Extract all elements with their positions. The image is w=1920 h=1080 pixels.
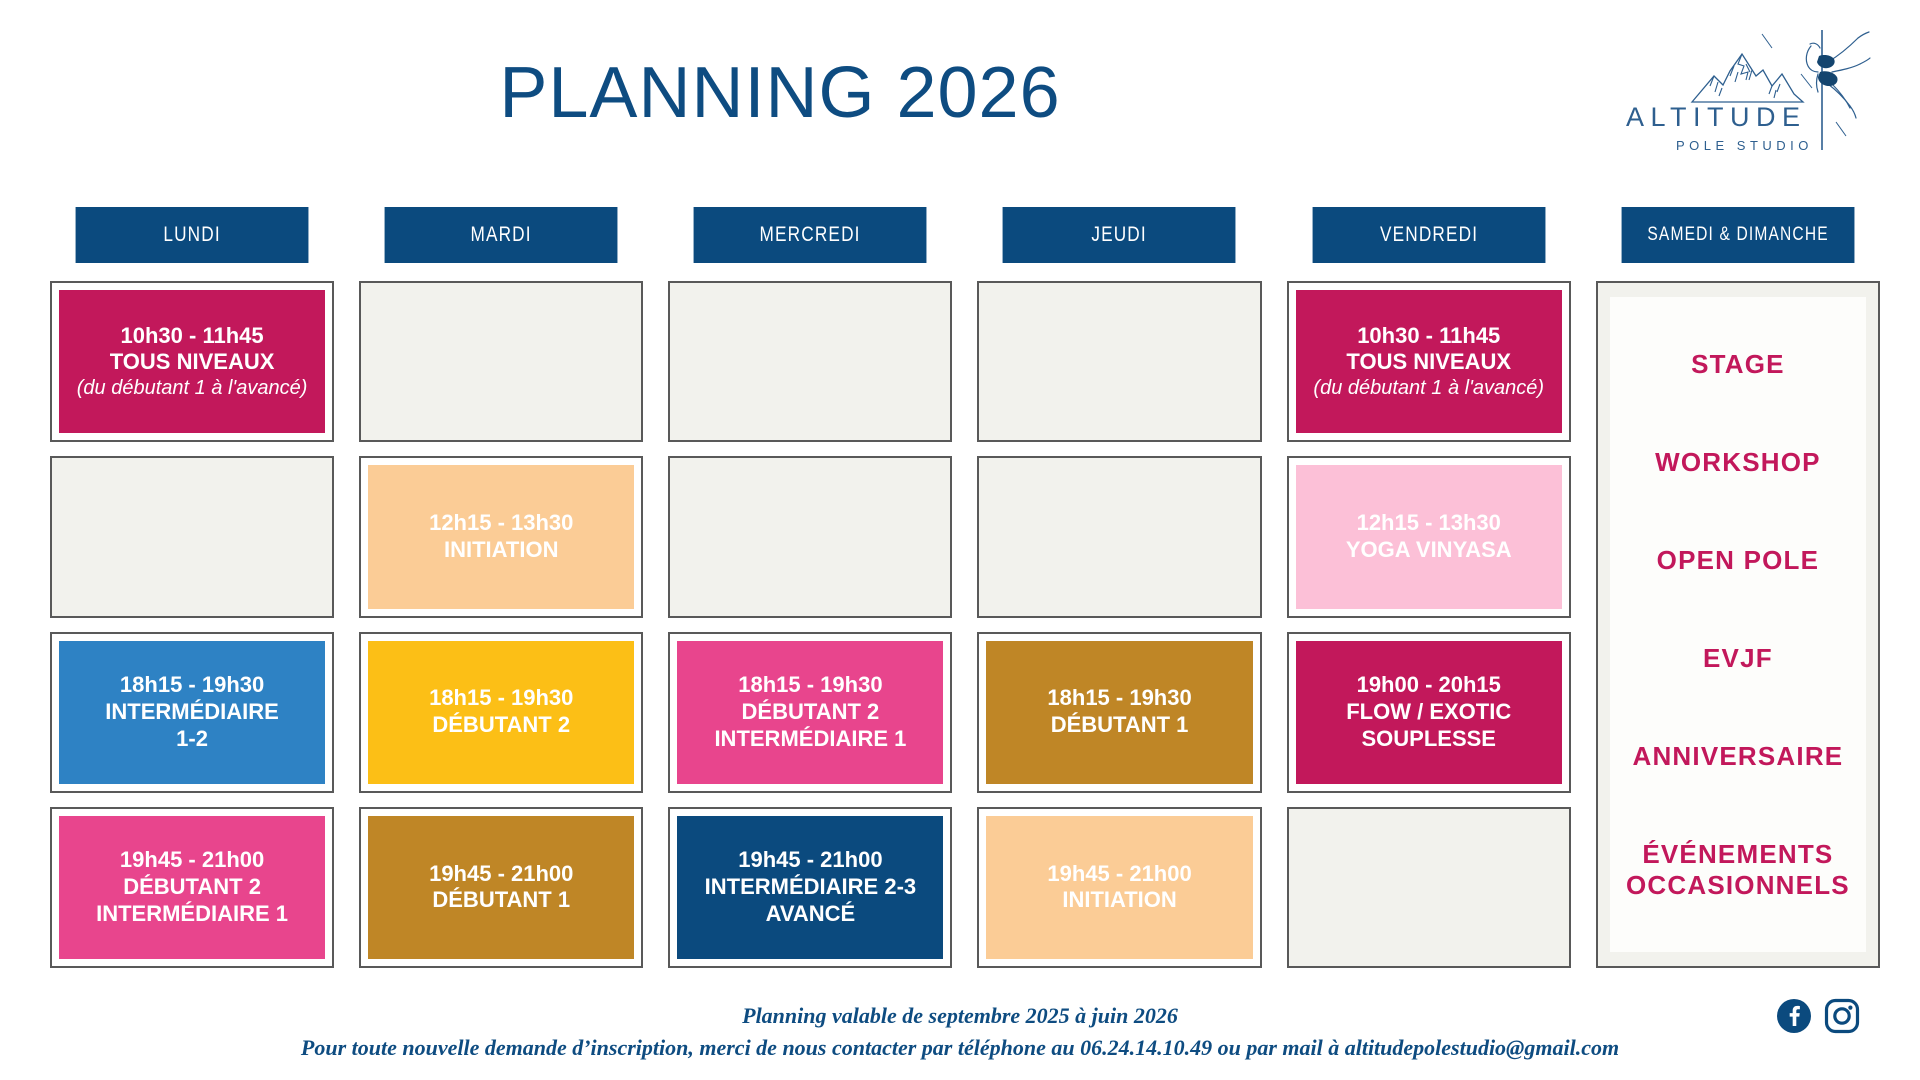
- class-time: 18h15 - 19h30: [1047, 685, 1191, 712]
- class-chip: 19h45 - 21h00 DÉBUTANT 1: [368, 816, 634, 959]
- weekend-event-open-pole: OPEN POLE: [1616, 511, 1860, 609]
- class-time: 12h15 - 13h30: [429, 510, 573, 537]
- class-time: 19h45 - 21h00: [738, 847, 882, 874]
- weekend-event-anniversaire: ANNIVERSAIRE: [1616, 707, 1860, 805]
- weekly-schedule-grid: LUNDI MARDI MERCREDI JEUDI VENDREDI SAME…: [50, 207, 1880, 982]
- schedule-cell[interactable]: 19h45 - 21h00 INTERMÉDIAIRE 2-3 AVANCÉ: [668, 807, 952, 968]
- weekend-events-cell[interactable]: STAGE WORKSHOP OPEN POLE EVJF ANNIVERSAI…: [1596, 281, 1880, 968]
- class-level2: 1-2: [176, 726, 208, 753]
- schedule-cell[interactable]: 18h15 - 19h30 DÉBUTANT 2: [359, 632, 643, 793]
- class-time: 12h15 - 13h30: [1357, 510, 1501, 537]
- class-time: 18h15 - 19h30: [120, 672, 264, 699]
- class-level: DÉBUTANT 2: [432, 712, 570, 739]
- altitude-pole-studio-logo: ALTITUDE POLE STUDIO: [1596, 14, 1896, 164]
- day-header-vendredi: VENDREDI: [1312, 207, 1545, 263]
- weekend-event-evjf: EVJF: [1616, 609, 1860, 707]
- schedule-cell[interactable]: 18h15 - 19h30 DÉBUTANT 1: [977, 632, 1261, 793]
- class-chip: 10h30 - 11h45 TOUS NIVEAUX (du débutant …: [1296, 290, 1562, 433]
- class-note: (du débutant 1 à l'avancé): [77, 376, 308, 400]
- schedule-cell[interactable]: 10h30 - 11h45 TOUS NIVEAUX (du débutant …: [1287, 281, 1571, 442]
- schedule-cell[interactable]: 12h15 - 13h30 INITIATION: [359, 456, 643, 617]
- weekend-events-panel: STAGE WORKSHOP OPEN POLE EVJF ANNIVERSAI…: [1610, 297, 1866, 952]
- weekend-event-occasionnels: ÉVÉNEMENTS OCCASIONNELS: [1616, 805, 1860, 934]
- weekend-event-workshop: WORKSHOP: [1616, 413, 1860, 511]
- svg-text:POLE STUDIO: POLE STUDIO: [1676, 138, 1813, 153]
- day-header-jeudi: JEUDI: [1003, 207, 1236, 263]
- schedule-cell[interactable]: 10h30 - 11h45 TOUS NIVEAUX (du débutant …: [50, 281, 334, 442]
- day-header-lundi: LUNDI: [76, 207, 309, 263]
- svg-text:ALTITUDE: ALTITUDE: [1626, 102, 1807, 132]
- schedule-cell[interactable]: 18h15 - 19h30 DÉBUTANT 2 INTERMÉDIAIRE 1: [668, 632, 952, 793]
- schedule-cell-empty[interactable]: [977, 456, 1261, 617]
- class-note: (du débutant 1 à l'avancé): [1313, 376, 1544, 400]
- class-time: 10h30 - 11h45: [1357, 323, 1500, 350]
- class-level: DÉBUTANT 1: [1051, 712, 1189, 739]
- class-time: 18h15 - 19h30: [738, 672, 882, 699]
- class-chip: 18h15 - 19h30 DÉBUTANT 1: [986, 641, 1252, 784]
- class-level: INTERMÉDIAIRE 2-3: [705, 874, 916, 901]
- schedule-cell-empty[interactable]: [50, 456, 334, 617]
- class-level: TOUS NIVEAUX: [1346, 349, 1511, 376]
- class-level: DÉBUTANT 1: [432, 887, 570, 914]
- class-chip: 19h45 - 21h00 DÉBUTANT 2 INTERMÉDIAIRE 1: [59, 816, 325, 959]
- class-chip: 10h30 - 11h45 TOUS NIVEAUX (du débutant …: [59, 290, 325, 433]
- class-time: 19h45 - 21h00: [120, 847, 264, 874]
- class-level2: AVANCÉ: [766, 901, 856, 928]
- schedule-cell[interactable]: 19h45 - 21h00 INITIATION: [977, 807, 1261, 968]
- planning-poster: PLANNING 2026: [0, 0, 1920, 1080]
- schedule-cell[interactable]: 12h15 - 13h30 YOGA VINYASA: [1287, 456, 1571, 617]
- class-chip: 18h15 - 19h30 DÉBUTANT 2 INTERMÉDIAIRE 1: [677, 641, 943, 784]
- footer-contact-line: Pour toute nouvelle demande d’inscriptio…: [0, 1032, 1920, 1064]
- social-links: [1776, 998, 1860, 1034]
- class-level: YOGA VINYASA: [1346, 537, 1512, 564]
- schedule-cell-empty[interactable]: [359, 281, 643, 442]
- class-chip: 19h45 - 21h00 INITIATION: [986, 816, 1252, 959]
- day-header-weekend: SAMEDI & DIMANCHE: [1621, 207, 1854, 263]
- class-time: 19h45 - 21h00: [429, 861, 573, 888]
- weekend-event-stage: STAGE: [1616, 315, 1860, 413]
- class-chip: 19h00 - 20h15 FLOW / EXOTIC SOUPLESSE: [1296, 641, 1562, 784]
- schedule-cell[interactable]: 18h15 - 19h30 INTERMÉDIAIRE 1-2: [50, 632, 334, 793]
- class-time: 19h45 - 21h00: [1047, 861, 1191, 888]
- class-time: 18h15 - 19h30: [429, 685, 573, 712]
- class-time: 10h30 - 11h45: [121, 323, 264, 350]
- class-level: TOUS NIVEAUX: [110, 349, 275, 376]
- schedule-cell[interactable]: 19h45 - 21h00 DÉBUTANT 2 INTERMÉDIAIRE 1: [50, 807, 334, 968]
- class-level: INTERMÉDIAIRE: [105, 699, 279, 726]
- schedule-cell-empty[interactable]: [668, 456, 952, 617]
- footer: Planning valable de septembre 2025 à jui…: [0, 1000, 1920, 1064]
- schedule-cell[interactable]: 19h00 - 20h15 FLOW / EXOTIC SOUPLESSE: [1287, 632, 1571, 793]
- class-time: 19h00 - 20h15: [1357, 672, 1501, 699]
- class-chip: 18h15 - 19h30 DÉBUTANT 2: [368, 641, 634, 784]
- instagram-icon[interactable]: [1824, 998, 1860, 1034]
- facebook-icon[interactable]: [1776, 998, 1812, 1034]
- class-level: INITIATION: [444, 537, 558, 564]
- footer-validity-line: Planning valable de septembre 2025 à jui…: [0, 1000, 1920, 1032]
- class-chip: 12h15 - 13h30 INITIATION: [368, 465, 634, 608]
- class-chip: 12h15 - 13h30 YOGA VINYASA: [1296, 465, 1562, 608]
- schedule-cell-empty[interactable]: [668, 281, 952, 442]
- class-level: DÉBUTANT 2: [123, 874, 261, 901]
- day-header-mardi: MARDI: [385, 207, 618, 263]
- class-level: DÉBUTANT 2: [742, 699, 880, 726]
- class-level2: INTERMÉDIAIRE 1: [96, 901, 288, 928]
- page-title: PLANNING 2026: [0, 52, 1560, 134]
- class-level2: INTERMÉDIAIRE 1: [714, 726, 906, 753]
- class-level: FLOW / EXOTIC: [1346, 699, 1511, 726]
- schedule-cell-empty[interactable]: [1287, 807, 1571, 968]
- class-chip: 19h45 - 21h00 INTERMÉDIAIRE 2-3 AVANCÉ: [677, 816, 943, 959]
- schedule-cell[interactable]: 19h45 - 21h00 DÉBUTANT 1: [359, 807, 643, 968]
- class-chip: 18h15 - 19h30 INTERMÉDIAIRE 1-2: [59, 641, 325, 784]
- schedule-cell-empty[interactable]: [977, 281, 1261, 442]
- class-level2: SOUPLESSE: [1362, 726, 1496, 753]
- day-header-mercredi: MERCREDI: [694, 207, 927, 263]
- class-level: INITIATION: [1062, 887, 1176, 914]
